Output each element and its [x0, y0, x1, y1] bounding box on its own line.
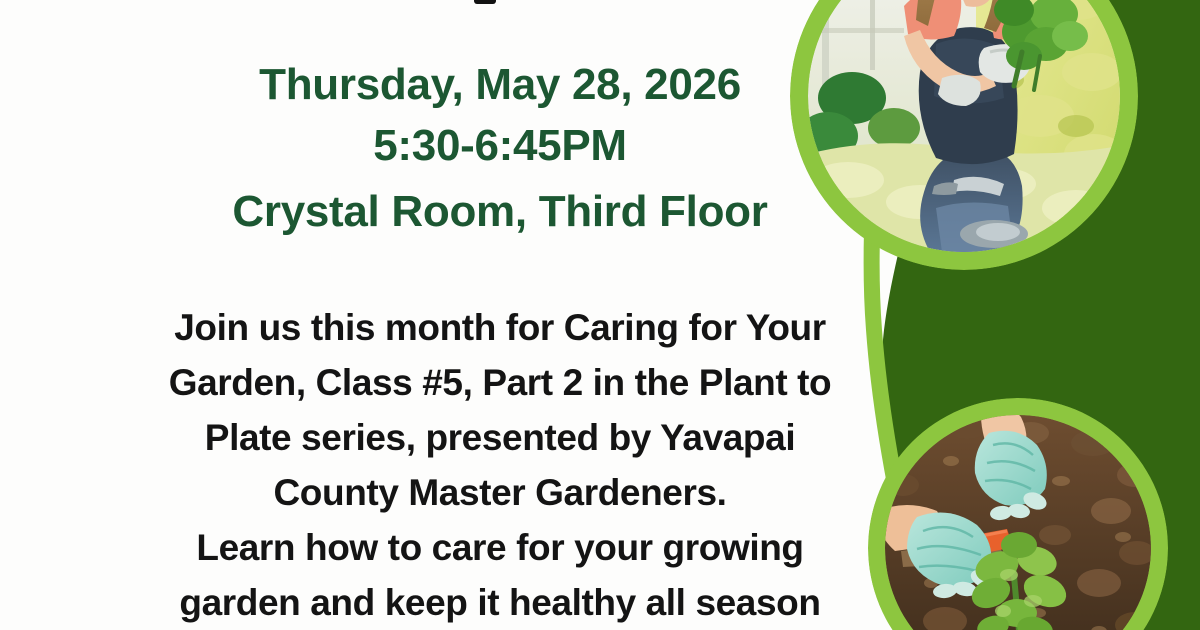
event-location: Crystal Room, Third Floor [0, 181, 1000, 242]
description-line: Garden, Class #5, Part 2 in the Plant to [0, 355, 1000, 410]
event-details: Thursday, May 28, 2026 5:30-6:45PM Cryst… [0, 54, 1000, 242]
event-description: Join us this month for Caring for Your G… [0, 300, 1000, 630]
description-line: Join us this month for Caring for Your [0, 300, 1000, 355]
description-line: County Master Gardeners. [0, 465, 1000, 520]
description-line: Plate series, presented by Yavapai [0, 410, 1000, 465]
description-line: garden and keep it healthy all season [0, 575, 1000, 630]
event-flyer: Thursday, May 28, 2026 5:30-6:45PM Cryst… [0, 0, 1200, 630]
cut-off-title-glyph [474, 0, 496, 4]
description-line: Learn how to care for your growing [0, 520, 1000, 575]
event-time: 5:30-6:45PM [0, 115, 1000, 176]
event-date: Thursday, May 28, 2026 [0, 54, 1000, 115]
